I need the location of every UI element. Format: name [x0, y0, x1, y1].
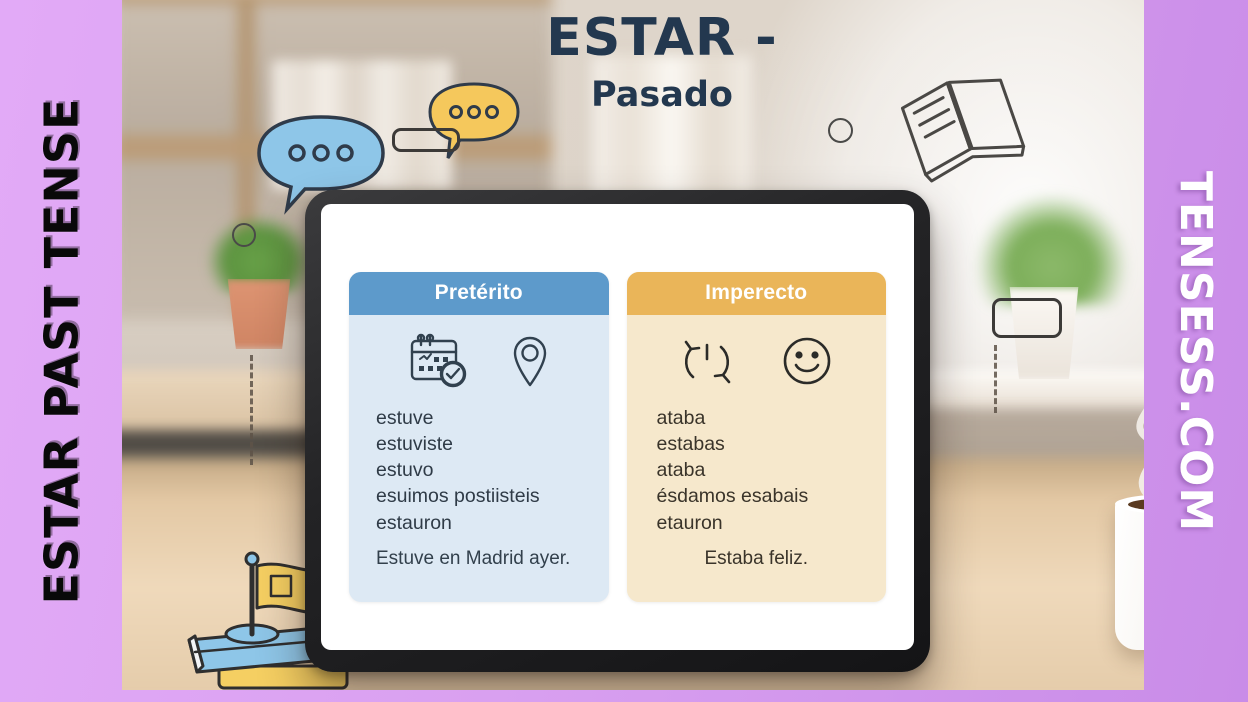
- card-imperfecto-conjugations: ataba estabas ataba ésdamos esabais etau…: [627, 397, 887, 536]
- tense-cards: Pretérito: [349, 272, 886, 602]
- conjugation-row: estuve: [376, 405, 609, 431]
- calendar-check-icon: [408, 333, 470, 389]
- left-banner: ESTAR PAST TENSE: [0, 0, 122, 702]
- conjugation-row: esuimos postiisteis: [376, 483, 609, 509]
- card-imperfecto[interactable]: Imperecto: [627, 272, 887, 602]
- potted-plant-left: [197, 215, 317, 350]
- left-banner-text: ESTAR PAST TENSE: [34, 98, 88, 605]
- tablet-device: Pretérito: [305, 190, 930, 672]
- conjugation-row: estuviste: [376, 431, 609, 457]
- open-book-icon: [894, 62, 1034, 192]
- card-imperfecto-title: Imperecto: [627, 272, 887, 315]
- dashed-line-icon: [994, 345, 997, 413]
- smiley-face-icon: [779, 333, 835, 389]
- repeat-arrows-icon: [677, 333, 739, 389]
- conjugation-row: ataba: [657, 457, 887, 483]
- slide-canvas: ESTAR PAST TENSE TENSESS.COM ESTAR - Pas…: [0, 0, 1248, 702]
- conjugation-row: estauron: [376, 510, 609, 536]
- classroom-scene: ESTAR - Pasado: [122, 0, 1144, 690]
- right-banner-text: TENSESS.COM: [1171, 170, 1222, 531]
- conjugation-row: ésdamos esabais: [657, 483, 887, 509]
- rounded-rect-outline-icon: [392, 128, 460, 152]
- coffee-mug: [1115, 500, 1144, 650]
- card-imperfecto-example: Estaba feliz.: [627, 536, 887, 586]
- circle-outline-icon: [828, 118, 853, 143]
- card-preterito[interactable]: Pretérito: [349, 272, 609, 602]
- card-imperfecto-icons: [627, 315, 887, 397]
- circle-outline-icon: [232, 223, 256, 247]
- map-pin-icon: [510, 333, 550, 389]
- conjugation-row: ataba: [657, 405, 887, 431]
- card-preterito-example: Estuve en Madrid ayer.: [349, 536, 609, 586]
- conjugation-row: estabas: [657, 431, 887, 457]
- tablet-screen: Pretérito: [321, 204, 914, 650]
- rounded-rect-outline-icon: [992, 298, 1062, 338]
- potted-plant-right: [957, 195, 1132, 385]
- steam-swirl-icon: [1107, 370, 1144, 505]
- headline-line-1: ESTAR -: [462, 12, 862, 64]
- conjugation-row: etauron: [657, 510, 887, 536]
- card-preterito-title: Pretérito: [349, 272, 609, 315]
- right-banner: TENSESS.COM: [1144, 0, 1248, 702]
- dashed-line-icon: [250, 355, 253, 465]
- plant-pot: [225, 279, 293, 349]
- conjugation-row: estuvo: [376, 457, 609, 483]
- card-preterito-conjugations: estuve estuviste estuvo esuimos postiist…: [349, 397, 609, 536]
- card-preterito-icons: [349, 315, 609, 397]
